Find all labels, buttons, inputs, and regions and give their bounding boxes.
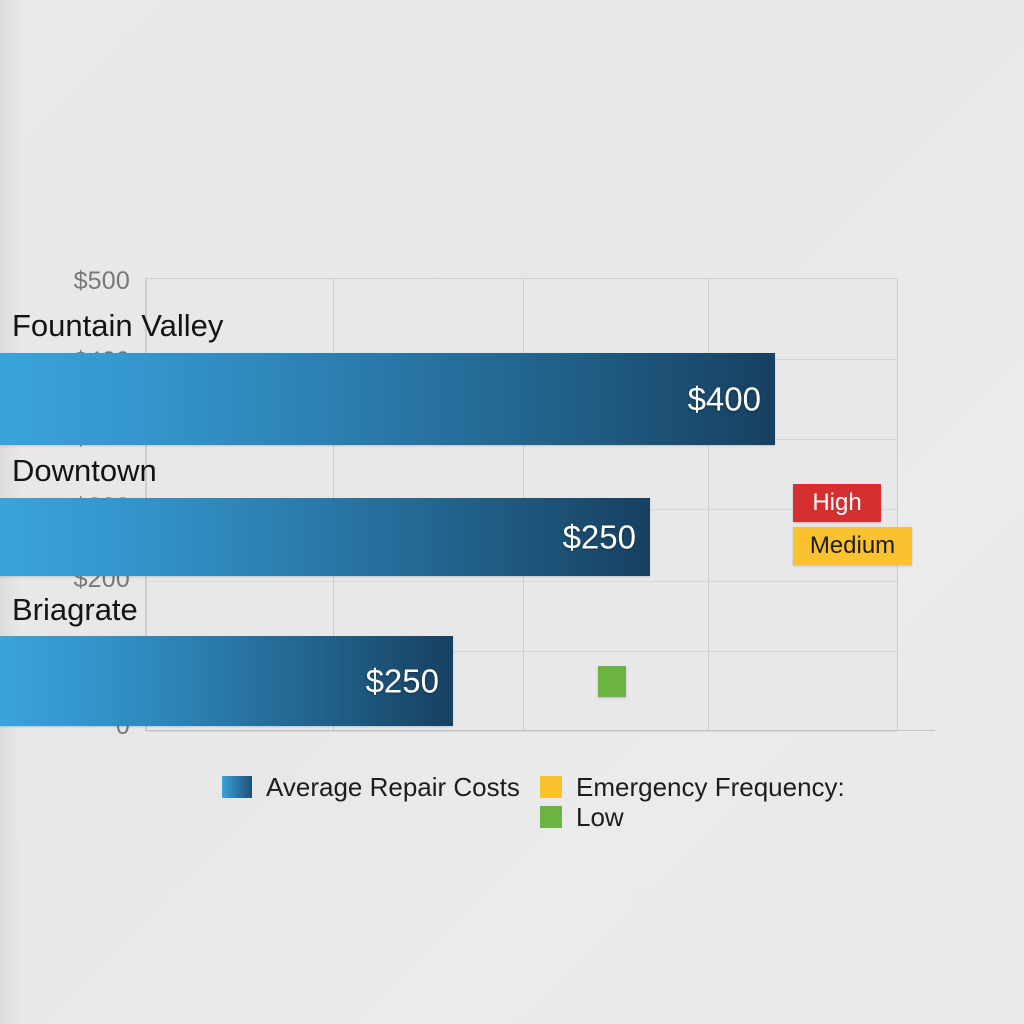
- bar-downtown[interactable]: $250: [0, 498, 650, 576]
- bar-value-label: $250: [563, 521, 636, 554]
- horizontal-bar-chart: $500$400$300$300$200$1000 Fountain Valle…: [0, 0, 1024, 1024]
- x-axis-line: [145, 730, 935, 731]
- legend-item[interactable]: Low: [540, 802, 845, 832]
- vertical-gridline-4: [897, 279, 898, 730]
- legend-swatch-icon: [540, 806, 562, 828]
- bar-value-label: $400: [688, 383, 761, 416]
- category-label-downtown: Downtown: [12, 455, 157, 486]
- chart-page: $500$400$300$300$200$1000 Fountain Valle…: [0, 0, 1024, 1024]
- category-label-briagrate: Briagrate: [12, 594, 138, 625]
- legend-label: Low: [576, 804, 624, 830]
- frequency-badge-high[interactable]: High: [793, 484, 881, 522]
- bar-value-label: $250: [366, 665, 439, 698]
- category-label-fountain-valley: Fountain Valley: [12, 310, 223, 341]
- vertical-gridline-3: [708, 279, 709, 730]
- horizontal-gridline-3: [146, 581, 897, 582]
- legend-item[interactable]: Emergency Frequency:: [540, 772, 845, 802]
- legend-swatch-icon: [540, 776, 562, 798]
- bar-briagrate[interactable]: $250: [0, 636, 453, 726]
- bar-fountain-valley[interactable]: $400: [0, 353, 775, 445]
- legend-column-0: Average Repair Costs: [222, 772, 520, 802]
- legend-column-1: Emergency Frequency:Low: [540, 772, 845, 832]
- legend-label: Average Repair Costs: [266, 774, 520, 800]
- frequency-badge-low[interactable]: [598, 666, 626, 697]
- legend-label: Emergency Frequency:: [576, 774, 845, 800]
- horizontal-gridline-5: [146, 731, 897, 732]
- y-axis-tick-label: $500: [40, 269, 130, 294]
- legend-swatch-icon: [222, 776, 252, 798]
- frequency-badge-medium[interactable]: Medium: [793, 527, 912, 565]
- legend-item[interactable]: Average Repair Costs: [222, 772, 520, 802]
